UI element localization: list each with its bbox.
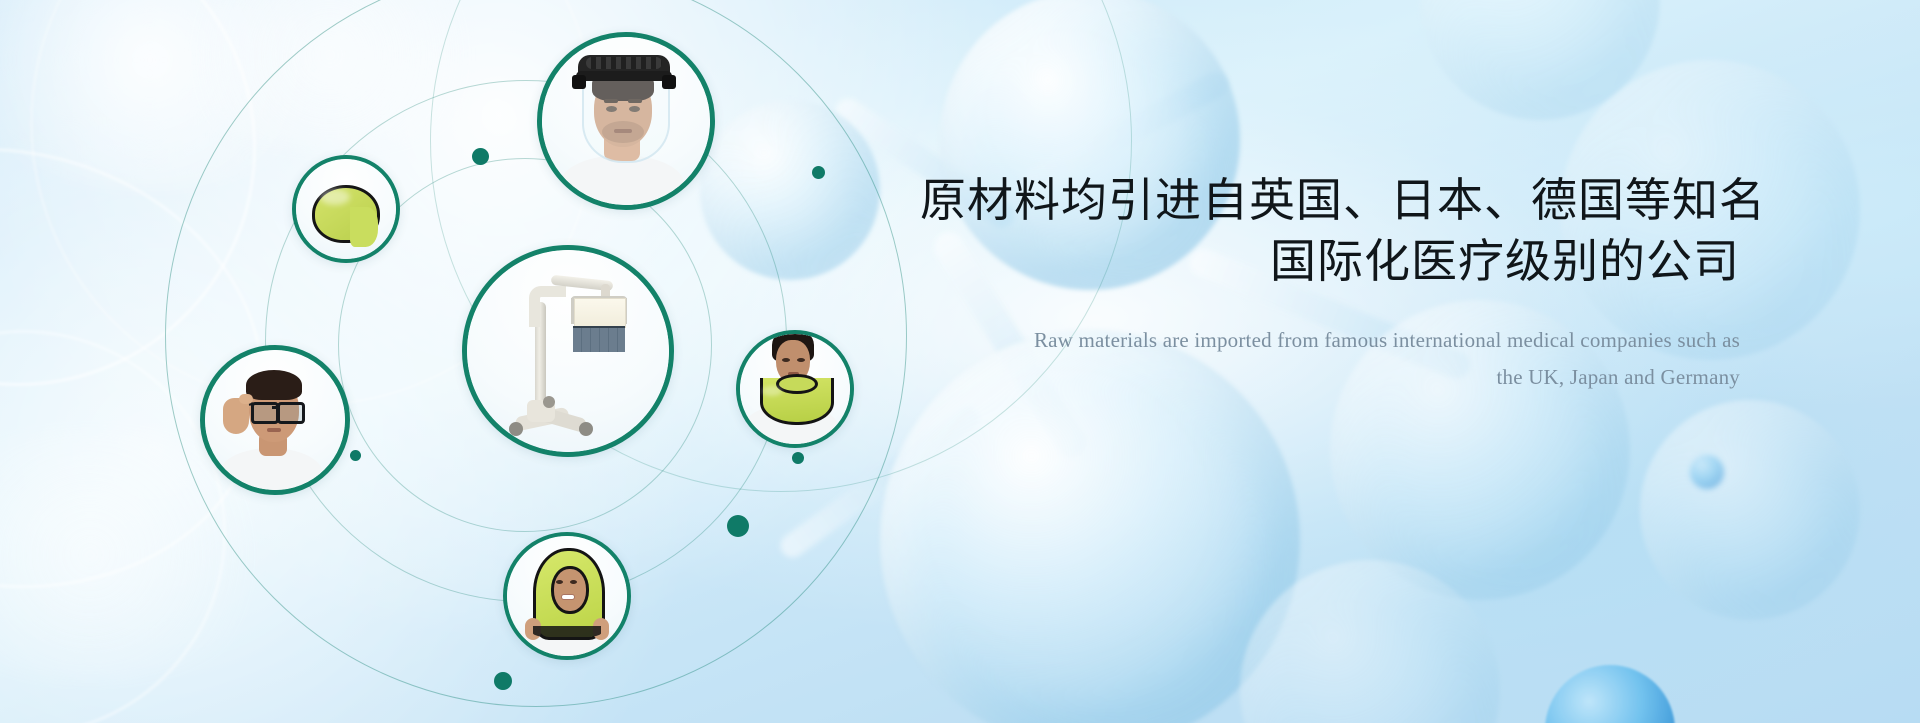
- bubble-lead-hood[interactable]: [503, 532, 631, 660]
- hero-subtitle: Raw materials are imported from famous i…: [920, 322, 1740, 396]
- face-shield-photo: [542, 37, 710, 205]
- molecule-sphere: [1240, 560, 1500, 723]
- subtitle-line-1: Raw materials are imported from famous i…: [920, 322, 1740, 359]
- bubble-lead-glasses[interactable]: [200, 345, 350, 495]
- bubble-xray-shield[interactable]: [462, 245, 674, 457]
- blue-accent-sphere: [1545, 665, 1675, 723]
- orbit-dot: [727, 515, 749, 537]
- hero-banner: 原材料均引进自英国、日本、德国等知名 国际化医疗级别的公司 Raw materi…: [0, 0, 1920, 723]
- orbit-dot: [812, 166, 825, 179]
- bubble-lead-cap[interactable]: [292, 155, 400, 263]
- finger: [239, 394, 253, 404]
- orbit-dot: [472, 148, 489, 165]
- subtitle-line-2: the UK, Japan and Germany: [920, 359, 1740, 396]
- orbit-dot: [494, 672, 512, 690]
- mobile-xray-shield-photo: [467, 250, 669, 452]
- molecule-sphere: [1640, 400, 1860, 620]
- orbit-dot: [350, 450, 361, 461]
- orbit-dot: [792, 452, 804, 464]
- hero-copy: 原材料均引进自英国、日本、德国等知名 国际化医疗级别的公司 Raw materi…: [920, 170, 1740, 396]
- lead-glasses-photo: [205, 350, 345, 490]
- molecule-sphere: [1420, 0, 1660, 120]
- hair: [246, 370, 302, 400]
- headline-line-2: 国际化医疗级别的公司: [920, 231, 1740, 292]
- page-title: 原材料均引进自英国、日本、德国等知名 国际化医疗级别的公司: [920, 170, 1740, 292]
- lead-hood-photo: [507, 536, 627, 656]
- lead-cap-photo: [296, 159, 396, 259]
- bubble-thyroid-collar[interactable]: [736, 330, 854, 448]
- bubble-face-shield[interactable]: [537, 32, 715, 210]
- headline-line-1: 原材料均引进自英国、日本、德国等知名: [920, 174, 1766, 226]
- blue-accent-sphere: [1690, 455, 1724, 489]
- thyroid-collar-photo: [740, 334, 850, 444]
